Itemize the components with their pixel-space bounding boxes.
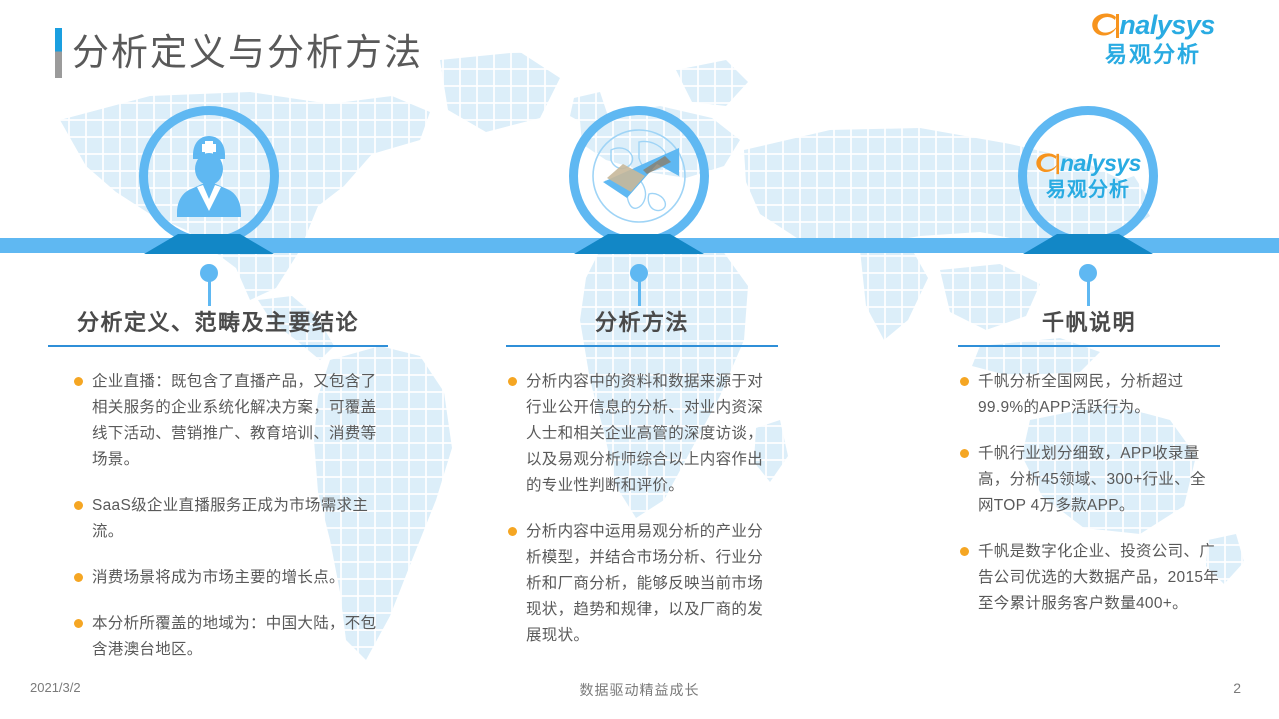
analysys-logo-icon: nalysys 易观分析 xyxy=(1035,152,1141,200)
bullet-dot-icon xyxy=(74,619,83,628)
bullet-text: 千帆分析全国网民，分析超过99.9%的APP活跃行为。 xyxy=(978,369,1220,421)
bullet-dot-icon xyxy=(508,377,517,386)
bullet-dot-icon xyxy=(74,501,83,510)
bullet-dot-icon xyxy=(960,547,969,556)
column-2-heading: 分析方法 xyxy=(506,305,778,337)
node-1-connector-dot xyxy=(200,264,218,282)
globe-arrow-icon xyxy=(587,124,691,228)
column-1-rule xyxy=(48,345,388,347)
bullet-dot-icon xyxy=(74,573,83,582)
node-3-circle[interactable]: nalysys 易观分析 xyxy=(1018,106,1158,246)
column-1: 分析定义、范畴及主要结论 企业直播：既包含了直播产品，又包含了相关服务的企业系统… xyxy=(48,305,388,683)
slide-header: 分析定义与分析方法 nalysys 易观分析 xyxy=(0,0,1279,100)
list-item: 分析内容中运用易观分析的产业分析模型，并结合市场分析、行业分析和厂商分析，能够反… xyxy=(508,519,778,649)
column-1-bullets: 企业直播：既包含了直播产品，又包含了相关服务的企业系统化解决方案，可覆盖线下活动… xyxy=(48,369,388,663)
bullet-text: 分析内容中运用易观分析的产业分析模型，并结合市场分析、行业分析和厂商分析，能够反… xyxy=(526,519,778,649)
node-2-circle[interactable] xyxy=(569,106,709,246)
node-1-circle[interactable] xyxy=(139,106,279,246)
column-2: 分析方法 分析内容中的资料和数据来源于对行业公开信息的分析、对业内资深人士和相关… xyxy=(506,305,778,669)
circle-logo-chinese: 易观分析 xyxy=(1035,180,1141,200)
list-item: 企业直播：既包含了直播产品，又包含了相关服务的企业系统化解决方案，可覆盖线下活动… xyxy=(74,369,388,473)
node-3-connector-dot xyxy=(1079,264,1097,282)
page-number: 2 xyxy=(1233,680,1241,696)
bullet-dot-icon xyxy=(508,527,517,536)
column-3-heading: 千帆说明 xyxy=(958,305,1220,337)
analysys-swoosh-icon xyxy=(1091,13,1121,39)
node-3-ribbon xyxy=(1023,232,1153,254)
column-2-rule xyxy=(506,345,778,347)
list-item: 分析内容中的资料和数据来源于对行业公开信息的分析、对业内资深人士和相关企业高管的… xyxy=(508,369,778,499)
bullet-dot-icon xyxy=(960,377,969,386)
list-item: 消费场景将成为市场主要的增长点。 xyxy=(74,565,388,591)
column-3: 千帆说明 千帆分析全国网民，分析超过99.9%的APP活跃行为。 千帆行业划分细… xyxy=(958,305,1220,637)
doctor-person-icon xyxy=(171,133,247,219)
bullet-text: 千帆是数字化企业、投资公司、广告公司优选的大数据产品，2015年至今累计服务客户… xyxy=(978,539,1220,617)
bullet-dot-icon xyxy=(960,449,969,458)
column-3-bullets: 千帆分析全国网民，分析超过99.9%的APP活跃行为。 千帆行业划分细致，APP… xyxy=(958,369,1220,617)
analysys-swoosh-icon xyxy=(1035,153,1061,175)
bullet-text: 消费场景将成为市场主要的增长点。 xyxy=(92,565,345,591)
node-3-connector-line xyxy=(1087,280,1090,306)
list-item: 千帆是数字化企业、投资公司、广告公司优选的大数据产品，2015年至今累计服务客户… xyxy=(960,539,1220,617)
list-item: SaaS级企业直播服务正成为市场需求主流。 xyxy=(74,493,388,545)
list-item: 本分析所覆盖的地域为：中国大陆，不包含港澳台地区。 xyxy=(74,611,388,663)
circle-logo-wordmark: nalysys xyxy=(1060,152,1141,175)
slide-footer: 2021/3/2 数据驱动精益成长 2 xyxy=(0,680,1279,710)
node-2-connector-dot xyxy=(630,264,648,282)
footer-tagline: 数据驱动精益成长 xyxy=(0,680,1279,700)
list-item: 千帆行业划分细致，APP收录量高，分析45领域、300+行业、全网TOP 4万多… xyxy=(960,441,1220,519)
brand-logo: nalysys 易观分析 xyxy=(1063,12,1243,66)
node-1-connector-line xyxy=(208,280,211,306)
node-1-ribbon xyxy=(144,232,274,254)
column-3-rule xyxy=(958,345,1220,347)
bullet-text: 企业直播：既包含了直播产品，又包含了相关服务的企业系统化解决方案，可覆盖线下活动… xyxy=(92,369,388,473)
node-2-connector-line xyxy=(638,280,641,306)
page-title: 分析定义与分析方法 xyxy=(72,22,423,76)
list-item: 千帆分析全国网民，分析超过99.9%的APP活跃行为。 xyxy=(960,369,1220,421)
bullet-text: 本分析所覆盖的地域为：中国大陆，不包含港澳台地区。 xyxy=(92,611,388,663)
column-2-bullets: 分析内容中的资料和数据来源于对行业公开信息的分析、对业内资深人士和相关企业高管的… xyxy=(506,369,778,649)
node-2-ribbon xyxy=(574,232,704,254)
logo-chinese: 易观分析 xyxy=(1063,44,1243,66)
bullet-text: SaaS级企业直播服务正成为市场需求主流。 xyxy=(92,493,388,545)
logo-wordmark: nalysys xyxy=(1119,12,1215,39)
bullet-dot-icon xyxy=(74,377,83,386)
bullet-text: 分析内容中的资料和数据来源于对行业公开信息的分析、对业内资深人士和相关企业高管的… xyxy=(526,369,778,499)
column-1-heading: 分析定义、范畴及主要结论 xyxy=(48,305,388,337)
title-accent-bar xyxy=(55,28,62,78)
bullet-text: 千帆行业划分细致，APP收录量高，分析45领域、300+行业、全网TOP 4万多… xyxy=(978,441,1220,519)
